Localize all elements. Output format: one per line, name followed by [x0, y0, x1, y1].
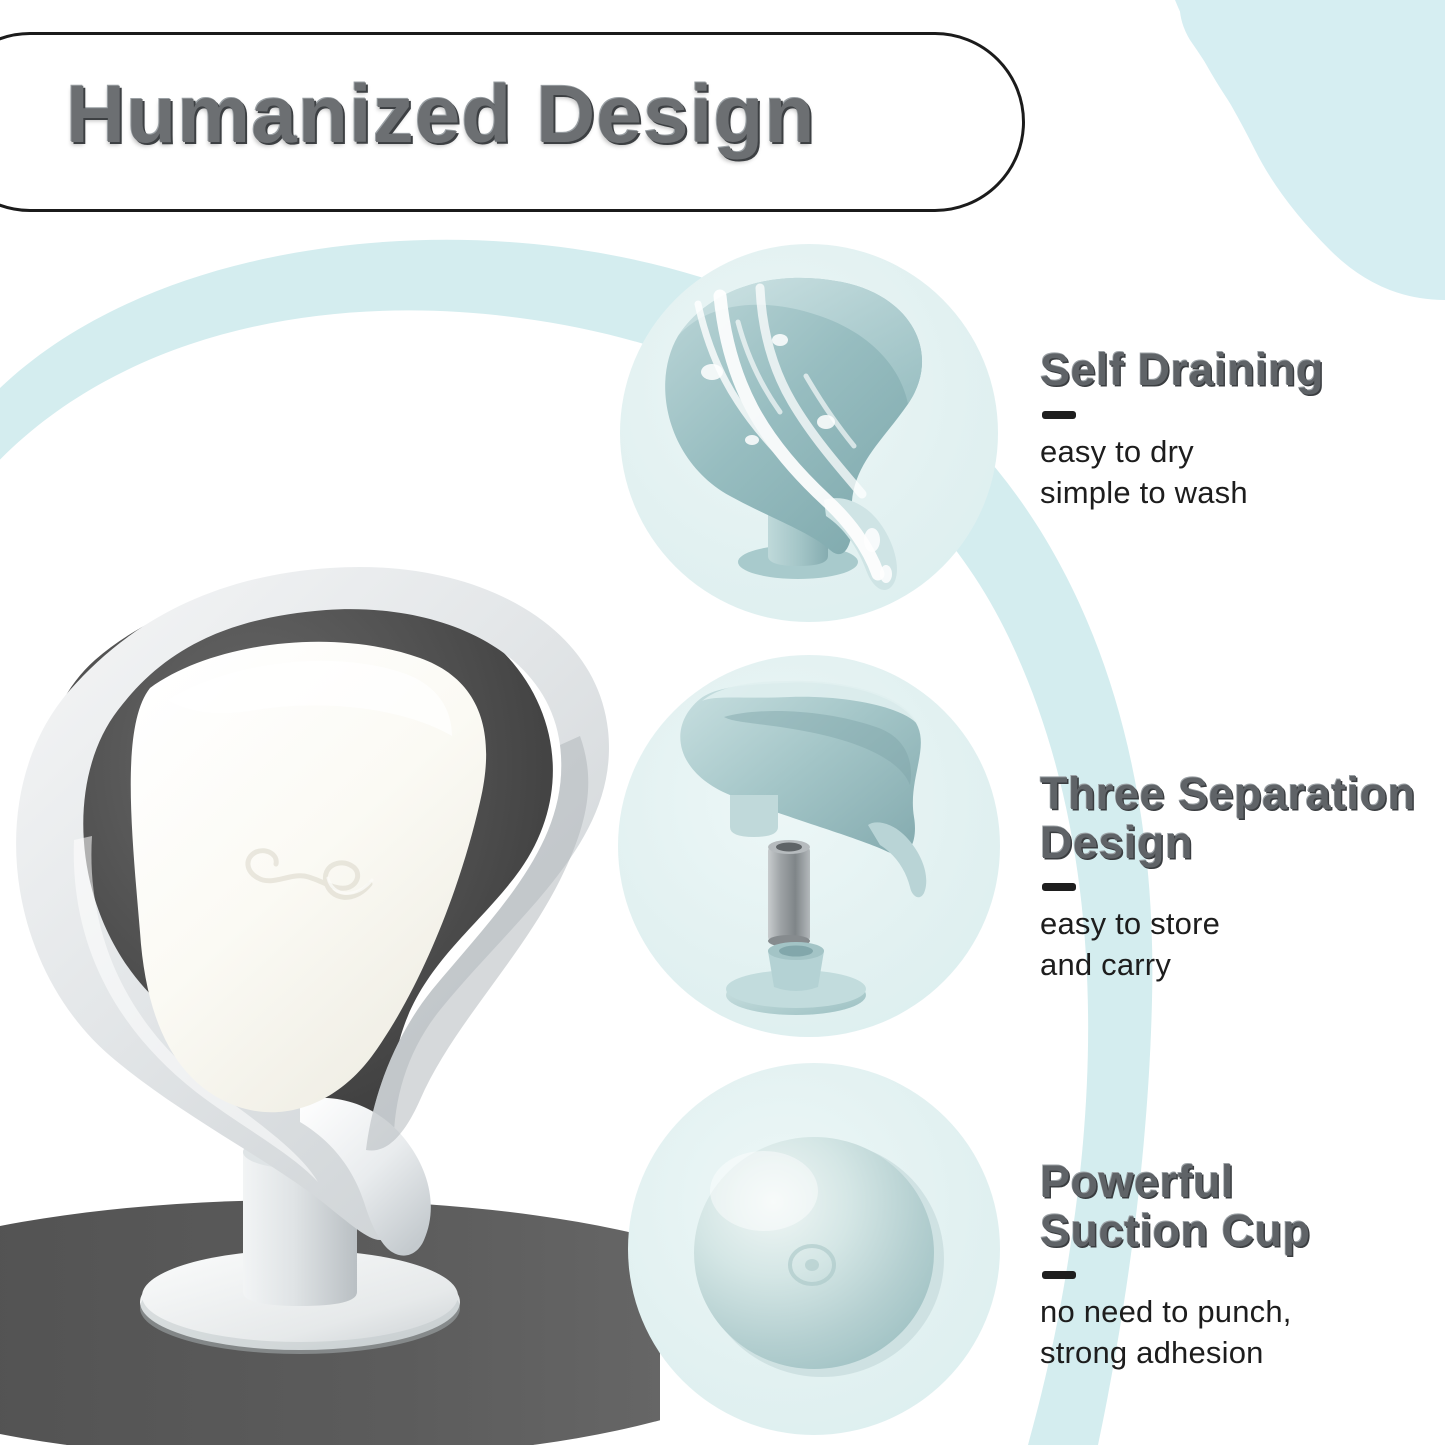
feature-title-three-separation: Three Separation Design: [1040, 770, 1445, 867]
three-separation-illustration: [618, 655, 1000, 1037]
suction-cup-center-dot: [805, 1259, 819, 1271]
hero-product-image: [0, 540, 660, 1445]
suction-cup-highlight: [710, 1151, 818, 1231]
feature-divider-dash-2: [1042, 883, 1076, 891]
feature-body-self-draining: easy to dry simple to wash: [1040, 431, 1440, 513]
dish2-suction-base: [726, 942, 866, 1015]
feature-body-three-separation: easy to store and carry: [1040, 903, 1445, 985]
top-right-blob-shape-extra: [1175, 0, 1445, 252]
infographic-page: Humanized Design: [0, 0, 1445, 1445]
feature-block-suction-cup: Powerful Suction Cup no need to punch, s…: [1040, 1158, 1440, 1374]
feature-image-self-draining: [620, 244, 998, 622]
dish2-bowl-socket: [730, 795, 778, 837]
feature-block-self-draining: Self Draining easy to dry simple to wash: [1040, 346, 1440, 513]
feature-block-three-separation: Three Separation Design easy to store an…: [1040, 770, 1445, 986]
metal-connector-rod: [768, 840, 810, 947]
dish2-bowl-spout: [868, 822, 926, 897]
self-draining-illustration: [620, 244, 998, 622]
feature-image-suction-cup: [628, 1063, 1000, 1435]
feature-divider-dash-3: [1042, 1271, 1076, 1279]
feature-body-suction-cup: no need to punch, strong adhesion: [1040, 1291, 1440, 1373]
feature-title-self-draining: Self Draining: [1040, 346, 1440, 395]
feature-divider-dash-1: [1042, 411, 1076, 419]
feature-image-three-separation: [618, 655, 1000, 1037]
suction-cup-illustration: [628, 1063, 1000, 1435]
top-right-blob-shape: [1180, 0, 1445, 300]
page-title: Humanized Design: [66, 68, 816, 162]
feature-title-suction-cup: Powerful Suction Cup: [1040, 1158, 1440, 1255]
